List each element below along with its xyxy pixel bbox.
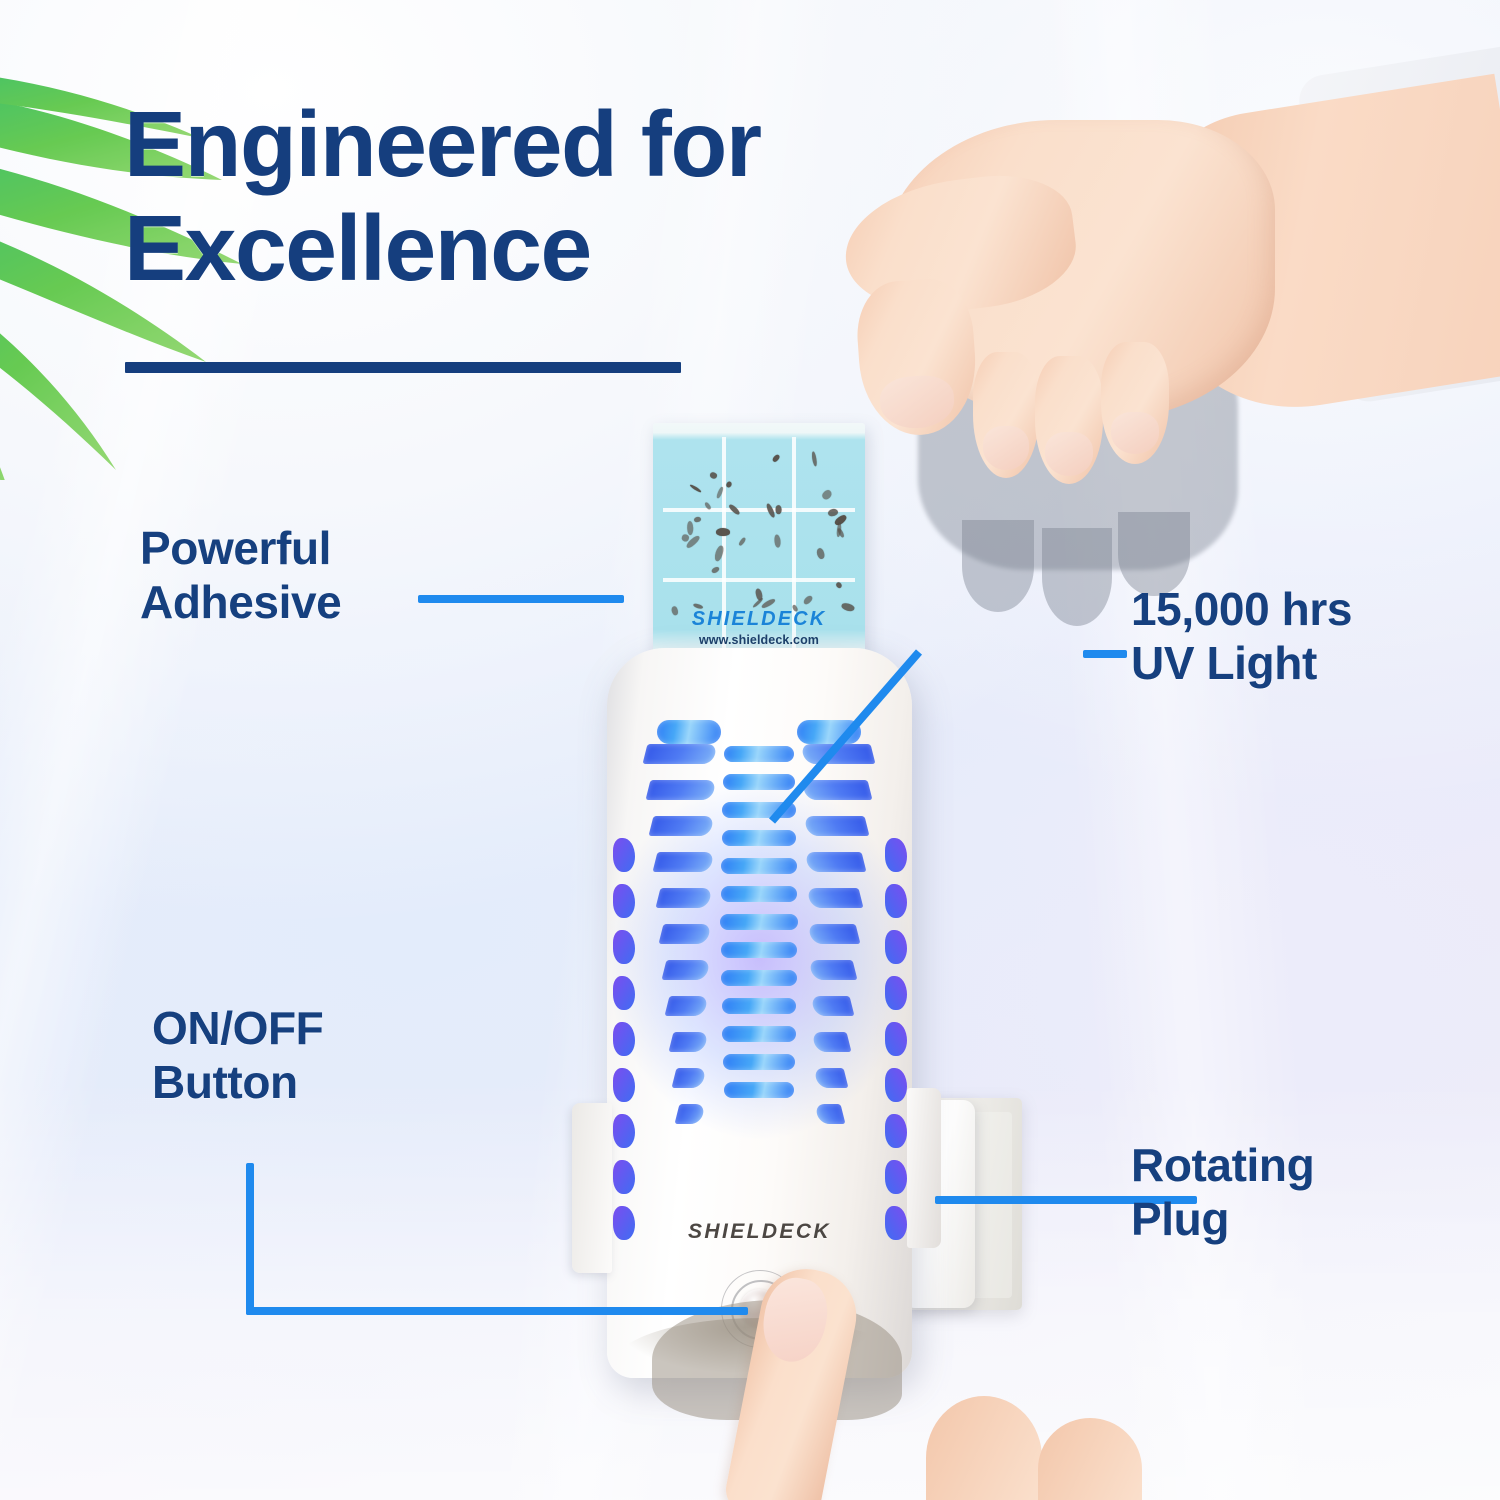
callout-uv-light: 15,000 hrs UV Light [1131,583,1352,691]
trapped-insect [739,538,747,547]
vent-slot [721,970,797,986]
vent-side [885,1160,907,1194]
vent-chevron [815,1104,846,1124]
vent-slot [723,774,795,790]
vent-side [885,976,907,1010]
hand-finger [1101,342,1169,464]
fingernail [1111,412,1159,454]
callout-powerful-adhesive: Powerful Adhesive [140,522,341,630]
vent-chevron [810,996,854,1016]
page-title: Engineered for Excellence [124,98,944,294]
trapped-insect [716,527,730,535]
callout-line1: Powerful [140,522,341,576]
hand-finger [973,352,1039,478]
glue-card-gridline [663,508,855,512]
device-side-tab-right [907,1088,941,1248]
trapped-insect [834,581,842,589]
vent-slot [722,998,796,1014]
knuckle [926,1396,1042,1500]
trapped-insect [828,508,840,517]
vent-slot [722,1026,795,1042]
vent-side [885,930,907,964]
vent-slot [721,858,797,874]
vent-chevron [802,780,873,800]
vent-chevron [662,960,711,980]
trapped-insect [811,452,817,467]
trapped-insect [689,483,702,493]
finger-pressing-icon [690,1268,1110,1500]
vent-side [613,1022,635,1056]
vent-chevron [803,816,869,836]
vent-slot [657,720,721,744]
knuckle [1038,1418,1142,1500]
trapped-insect [686,521,693,535]
vent-chevron [806,888,863,908]
glue-card-gridline [663,578,855,582]
vent-chevron [813,1068,848,1088]
vent-side [613,976,635,1010]
vent-side [885,838,907,872]
infographic-canvas: Engineered for Excellence SHIELDECK www.… [0,0,1500,1500]
glue-card-url: www.shieldeck.com [653,633,865,647]
leader-line-adhesive [418,595,624,603]
leader-line-uv-horizontal [1083,650,1127,658]
callout-line1: ON/OFF [152,1002,323,1056]
device-vent-grille [627,720,892,1190]
page-title-line2: Excellence [124,202,944,294]
device-side-tab-left [572,1103,612,1273]
trapped-insect [815,547,825,560]
fingernail [1045,432,1093,476]
callout-line1: Rotating [1131,1139,1314,1193]
vent-slot [724,746,795,762]
callout-line2: Button [152,1056,323,1110]
fingernail [983,426,1029,470]
glue-card-brand: SHIELDECK [653,609,865,629]
trapped-insect [774,534,781,547]
vent-chevron [809,960,858,980]
vent-side [613,930,635,964]
callout-rotating-plug: Rotating Plug [1131,1139,1314,1247]
callout-line2: Adhesive [140,576,341,630]
callout-line1: 15,000 hrs [1131,583,1352,637]
vent-slot [721,942,798,958]
vent-chevron [655,888,712,908]
trapped-insect [710,472,718,480]
vent-slot [723,1054,795,1070]
fingernail [878,374,955,431]
vent-side [613,838,635,872]
callout-onoff-button: ON/OFF Button [152,1002,323,1110]
trapped-insect [776,505,782,515]
title-underline [125,362,681,373]
vent-chevron [643,744,718,764]
hand-finger [854,276,981,439]
vent-slot [720,914,798,930]
vent-chevron [659,924,712,944]
vent-chevron [675,1104,706,1124]
vent-side [613,1068,635,1102]
callout-line2: Plug [1131,1193,1314,1247]
page-title-line1: Engineered for [124,98,944,190]
glue-card[interactable]: SHIELDECK www.shieldeck.com [653,423,865,663]
vent-side [613,1114,635,1148]
vent-slot [722,830,796,846]
vent-chevron [665,996,709,1016]
vent-side [613,1160,635,1194]
vent-chevron [808,924,861,944]
vent-chevron [646,780,717,800]
vent-side [885,1022,907,1056]
vent-slot [721,886,798,902]
vent-chevron [649,816,715,836]
vent-chevron [652,852,714,872]
vent-side [885,1068,907,1102]
vent-chevron [805,852,867,872]
leader-line-onoff-vertical [246,1163,254,1315]
vent-chevron [812,1032,852,1052]
trapped-insect [693,517,701,523]
vent-side [885,1114,907,1148]
trapped-insect [726,481,733,489]
vent-side [613,884,635,918]
trapped-insect [772,454,780,463]
vent-chevron [671,1068,706,1088]
device-brand-logo: SHIELDECK [607,1220,912,1244]
trapped-insect [821,489,834,502]
vent-chevron [668,1032,708,1052]
vent-side [885,884,907,918]
hand-finger [1035,356,1103,484]
hand-holding-card-icon [845,120,1275,550]
leader-line-onoff-horizontal [246,1307,748,1315]
callout-line2: UV Light [1131,637,1352,691]
trapped-insect [802,595,813,606]
trapped-insect [711,566,720,574]
vent-slot [724,1082,795,1098]
glue-card-branding: SHIELDECK www.shieldeck.com [653,609,865,647]
